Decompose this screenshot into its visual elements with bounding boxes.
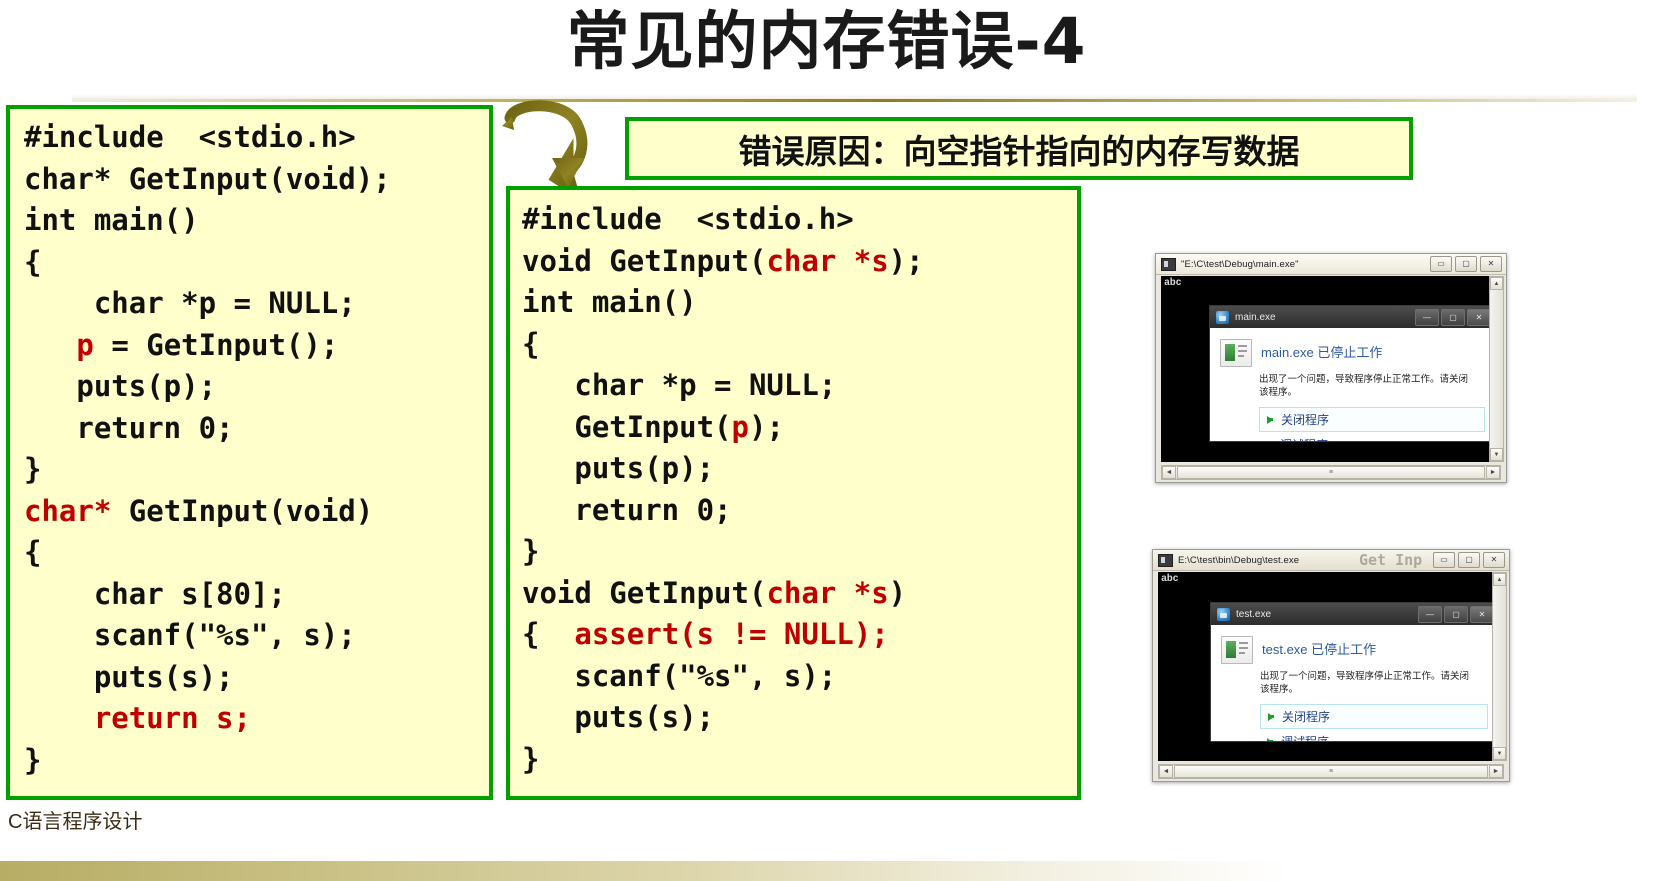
code-token: #include <stdio.h> xyxy=(24,120,356,154)
code-token: { xyxy=(24,245,41,279)
window-caption-title: E:\C\test\bin\Debug\test.exe xyxy=(1178,555,1299,566)
wer-dialog-main-exe: main.exe — ▢ ✕ main.exe 已停止工作 出现了一个问题，导致… xyxy=(1209,305,1496,442)
minimize-icon: — xyxy=(1423,314,1431,322)
code-token: } xyxy=(522,742,539,776)
restore-button[interactable]: ▭ xyxy=(1433,552,1455,568)
code-token: char* GetInput(void); xyxy=(24,162,391,196)
code-line: GetInput(p); xyxy=(522,407,1077,449)
code-line: { xyxy=(522,324,1077,366)
wer-app-icon xyxy=(1216,311,1229,324)
code-line: return s; xyxy=(24,698,489,740)
code-line: } xyxy=(522,531,1077,573)
code-line: scanf("%s", s); xyxy=(24,615,489,657)
code-line: char* GetInput(void) xyxy=(24,491,489,533)
wer-dialog-test-exe: test.exe — ▢ ✕ test.exe 已停止工作 出现了一个问题，导致… xyxy=(1210,602,1499,742)
maximize-icon: ▢ xyxy=(1452,611,1460,619)
code-token: p xyxy=(76,328,93,362)
green-arrow-icon xyxy=(1268,713,1274,721)
scroll-up-button[interactable]: ▲ xyxy=(1493,573,1506,586)
code-line: void GetInput(char *s) xyxy=(522,573,1077,615)
footer-gradient-bar xyxy=(0,861,1653,881)
restore-icon: ▭ xyxy=(1437,260,1445,268)
scroll-left-button[interactable]: ◄ xyxy=(1162,466,1176,479)
error-reason-banner: 错误原因：向空指针指向的内存写数据 xyxy=(625,117,1413,180)
code-token: { xyxy=(24,535,41,569)
scroll-left-button[interactable]: ◄ xyxy=(1159,765,1173,778)
wer-minimize-button[interactable]: — xyxy=(1418,606,1442,623)
minimize-icon: — xyxy=(1426,611,1434,619)
code-line: char *p = NULL; xyxy=(24,283,489,325)
code-token: ); xyxy=(889,244,924,278)
window-caption-title: "E:\C\test\Debug\main.exe" xyxy=(1181,259,1299,270)
wer-action-label: 调试程序 xyxy=(1281,733,1329,742)
code-line: char* GetInput(void); xyxy=(24,159,489,201)
scroll-thumb[interactable]: ≡ xyxy=(1177,466,1485,479)
code-token: int main() xyxy=(24,203,199,237)
wer-dialog-body: test.exe 已停止工作 出现了一个问题，导致程序停止正常工作。请关闭该程序… xyxy=(1211,625,1498,742)
code-line: void GetInput(char *s); xyxy=(522,241,1077,283)
code-token: } xyxy=(24,452,41,486)
horizontal-scrollbar[interactable]: ◄ ≡ ► xyxy=(1161,465,1501,480)
wer-dialog-title: main.exe xyxy=(1235,312,1276,323)
code-token: void GetInput( xyxy=(522,576,766,610)
code-token: GetInput( xyxy=(522,410,732,444)
scroll-thumb[interactable]: ≡ xyxy=(1174,765,1488,778)
maximize-icon: ▢ xyxy=(1465,556,1473,564)
code-block-buggy: #include <stdio.h>char* GetInput(void);i… xyxy=(6,105,493,800)
code-token: return 0; xyxy=(522,493,732,527)
close-icon: ✕ xyxy=(1479,611,1486,619)
page-title: 常见的内存错误-4 xyxy=(0,2,1653,82)
wer-action-debug-program[interactable]: 调试程序 xyxy=(1260,729,1488,742)
vertical-scrollbar[interactable]: ▲ ▼ xyxy=(1489,276,1504,462)
code-line: } xyxy=(24,449,489,491)
code-token: p xyxy=(732,410,749,444)
code-line: #include <stdio.h> xyxy=(522,199,1077,241)
code-line: { assert(s != NULL); xyxy=(522,614,1077,656)
code-line: scanf("%s", s); xyxy=(522,656,1077,698)
stopped-program-icon xyxy=(1221,636,1253,664)
maximize-button[interactable]: ▢ xyxy=(1458,552,1480,568)
scroll-right-button[interactable]: ► xyxy=(1486,466,1500,479)
footer-label: C语言程序设计 xyxy=(8,805,142,834)
code-token: puts(p); xyxy=(522,451,714,485)
wer-maximize-button[interactable]: ▢ xyxy=(1441,309,1465,326)
code-token: char *s xyxy=(766,244,888,278)
wer-description-text: 出现了一个问题，导致程序停止正常工作。请关闭该程序。 xyxy=(1260,670,1478,696)
wer-action-label: 关闭程序 xyxy=(1282,708,1330,725)
console-app-icon xyxy=(1161,258,1176,271)
wer-close-button[interactable]: ✕ xyxy=(1470,606,1494,623)
wer-heading-text: test.exe 已停止工作 xyxy=(1262,636,1376,658)
green-arrow-icon xyxy=(1267,738,1273,743)
screenshot-window-main-exe: "E:\C\test\Debug\main.exe" ▭ ▢ ✕ abc mai… xyxy=(1155,253,1507,483)
title-divider-rule xyxy=(72,99,1637,102)
code-token: } xyxy=(522,534,539,568)
code-line: p = GetInput(); xyxy=(24,325,489,367)
green-arrow-icon xyxy=(1267,416,1273,424)
code-line: char s[80]; xyxy=(24,574,489,616)
wer-title-buttons: — ▢ ✕ xyxy=(1415,309,1491,326)
scroll-up-button[interactable]: ▲ xyxy=(1490,277,1503,290)
code-line: puts(s); xyxy=(522,697,1077,739)
wer-maximize-button[interactable]: ▢ xyxy=(1444,606,1468,623)
code-token: return s; xyxy=(94,701,251,735)
code-token: assert(s != NULL); xyxy=(574,617,888,651)
window-caption-bar: "E:\C\test\Debug\main.exe" ▭ ▢ ✕ xyxy=(1156,254,1506,275)
window-caption-buttons: ▭ ▢ ✕ xyxy=(1433,552,1505,568)
wer-minimize-button[interactable]: — xyxy=(1415,309,1439,326)
code-token: char s[80]; xyxy=(24,577,286,611)
restore-button[interactable]: ▭ xyxy=(1430,256,1452,272)
wer-heading-row: test.exe 已停止工作 xyxy=(1221,636,1488,664)
code-token: } xyxy=(24,743,41,777)
wer-action-close-program[interactable]: 关闭程序 xyxy=(1259,407,1485,432)
code-line: char *p = NULL; xyxy=(522,365,1077,407)
vertical-scrollbar[interactable]: ▲ ▼ xyxy=(1492,572,1507,761)
code-line: puts(p); xyxy=(522,448,1077,490)
code-line: { xyxy=(24,242,489,284)
wer-action-debug-program[interactable]: 调试程序 xyxy=(1259,432,1485,442)
maximize-icon: ▢ xyxy=(1449,314,1457,322)
code-line: } xyxy=(522,739,1077,781)
close-icon: ✕ xyxy=(1476,314,1483,322)
wer-heading-row: main.exe 已停止工作 xyxy=(1220,339,1485,367)
code-token: return 0; xyxy=(24,411,234,445)
code-token: scanf("%s", s); xyxy=(24,618,356,652)
close-icon: ✕ xyxy=(1488,260,1495,268)
code-line: puts(p); xyxy=(24,366,489,408)
code-token: ) xyxy=(889,576,906,610)
maximize-button[interactable]: ▢ xyxy=(1455,256,1477,272)
code-token: puts(s); xyxy=(522,700,714,734)
window-caption-bar: E:\C\test\bin\Debug\test.exe Get Inp ▭ ▢… xyxy=(1153,550,1509,571)
code-block-fixed: #include <stdio.h>void GetInput(char *s)… xyxy=(506,186,1081,800)
code-token: GetInput(void) xyxy=(111,494,373,528)
wer-heading-text: main.exe 已停止工作 xyxy=(1261,339,1382,361)
scroll-down-button[interactable]: ▼ xyxy=(1490,448,1503,461)
green-arrow-icon xyxy=(1266,441,1272,443)
console-output-text: abc xyxy=(1161,574,1178,585)
wer-close-button[interactable]: ✕ xyxy=(1467,309,1491,326)
code-token: puts(p); xyxy=(24,369,216,403)
code-line: int main() xyxy=(24,200,489,242)
code-token: { xyxy=(522,327,539,361)
wer-title-buttons: — ▢ ✕ xyxy=(1418,606,1494,623)
console-output-area: abc main.exe — ▢ ✕ main.exe 已停止工作 xyxy=(1161,276,1501,462)
code-token: char *p = NULL; xyxy=(24,286,356,320)
wer-action-label: 关闭程序 xyxy=(1281,411,1329,428)
horizontal-scrollbar[interactable]: ◄ ≡ ► xyxy=(1158,764,1504,779)
error-reason-text: 错误原因：向空指针指向的内存写数据 xyxy=(739,125,1300,173)
code-line: { xyxy=(24,532,489,574)
wer-app-icon xyxy=(1217,608,1230,621)
code-line: #include <stdio.h> xyxy=(24,117,489,159)
code-token: puts(s); xyxy=(24,660,234,694)
code-token: void GetInput( xyxy=(522,244,766,278)
console-output-area: abc test.exe — ▢ ✕ test.exe 已停止工作 出现了 xyxy=(1158,572,1504,761)
code-line: puts(s); xyxy=(24,657,489,699)
maximize-icon: ▢ xyxy=(1462,260,1470,268)
wer-actions-list: 关闭程序 调试程序 xyxy=(1259,407,1485,442)
scroll-down-button[interactable]: ▼ xyxy=(1493,747,1506,760)
window-caption-buttons: ▭ ▢ ✕ xyxy=(1430,256,1502,272)
wer-actions-list: 关闭程序 调试程序 xyxy=(1260,704,1488,742)
code-token: char* xyxy=(24,494,111,528)
stopped-program-icon xyxy=(1220,339,1252,367)
code-token: { xyxy=(522,617,574,651)
screenshot-window-test-exe: E:\C\test\bin\Debug\test.exe Get Inp ▭ ▢… xyxy=(1152,549,1510,782)
code-token: char *p = NULL; xyxy=(522,368,836,402)
code-token: int main() xyxy=(522,285,697,319)
code-line: int main() xyxy=(522,282,1077,324)
code-token: = GetInput(); xyxy=(94,328,338,362)
code-token: ); xyxy=(749,410,784,444)
wer-title-bar: main.exe — ▢ ✕ xyxy=(1210,306,1495,328)
code-token xyxy=(24,701,94,735)
curved-down-arrow-icon xyxy=(494,100,624,190)
code-token: #include <stdio.h> xyxy=(522,202,854,236)
ghost-overlay-text: Get Inp xyxy=(1359,551,1422,569)
code-token xyxy=(24,328,76,362)
console-app-icon xyxy=(1158,554,1173,567)
close-button[interactable]: ✕ xyxy=(1483,552,1505,568)
code-line: return 0; xyxy=(522,490,1077,532)
wer-action-label: 调试程序 xyxy=(1280,436,1328,442)
console-output-text: abc xyxy=(1164,278,1181,289)
wer-dialog-body: main.exe 已停止工作 出现了一个问题，导致程序停止正常工作。请关闭该程序… xyxy=(1210,328,1495,442)
wer-action-close-program[interactable]: 关闭程序 xyxy=(1260,704,1488,729)
code-line: return 0; xyxy=(24,408,489,450)
code-line: } xyxy=(24,740,489,782)
close-icon: ✕ xyxy=(1491,556,1498,564)
wer-dialog-title: test.exe xyxy=(1236,609,1271,620)
code-token: char *s xyxy=(766,576,888,610)
scroll-right-button[interactable]: ► xyxy=(1489,765,1503,778)
close-button[interactable]: ✕ xyxy=(1480,256,1502,272)
wer-description-text: 出现了一个问题，导致程序停止正常工作。请关闭该程序。 xyxy=(1259,373,1477,399)
wer-title-bar: test.exe — ▢ ✕ xyxy=(1211,603,1498,625)
code-token: scanf("%s", s); xyxy=(522,659,836,693)
restore-icon: ▭ xyxy=(1440,556,1448,564)
